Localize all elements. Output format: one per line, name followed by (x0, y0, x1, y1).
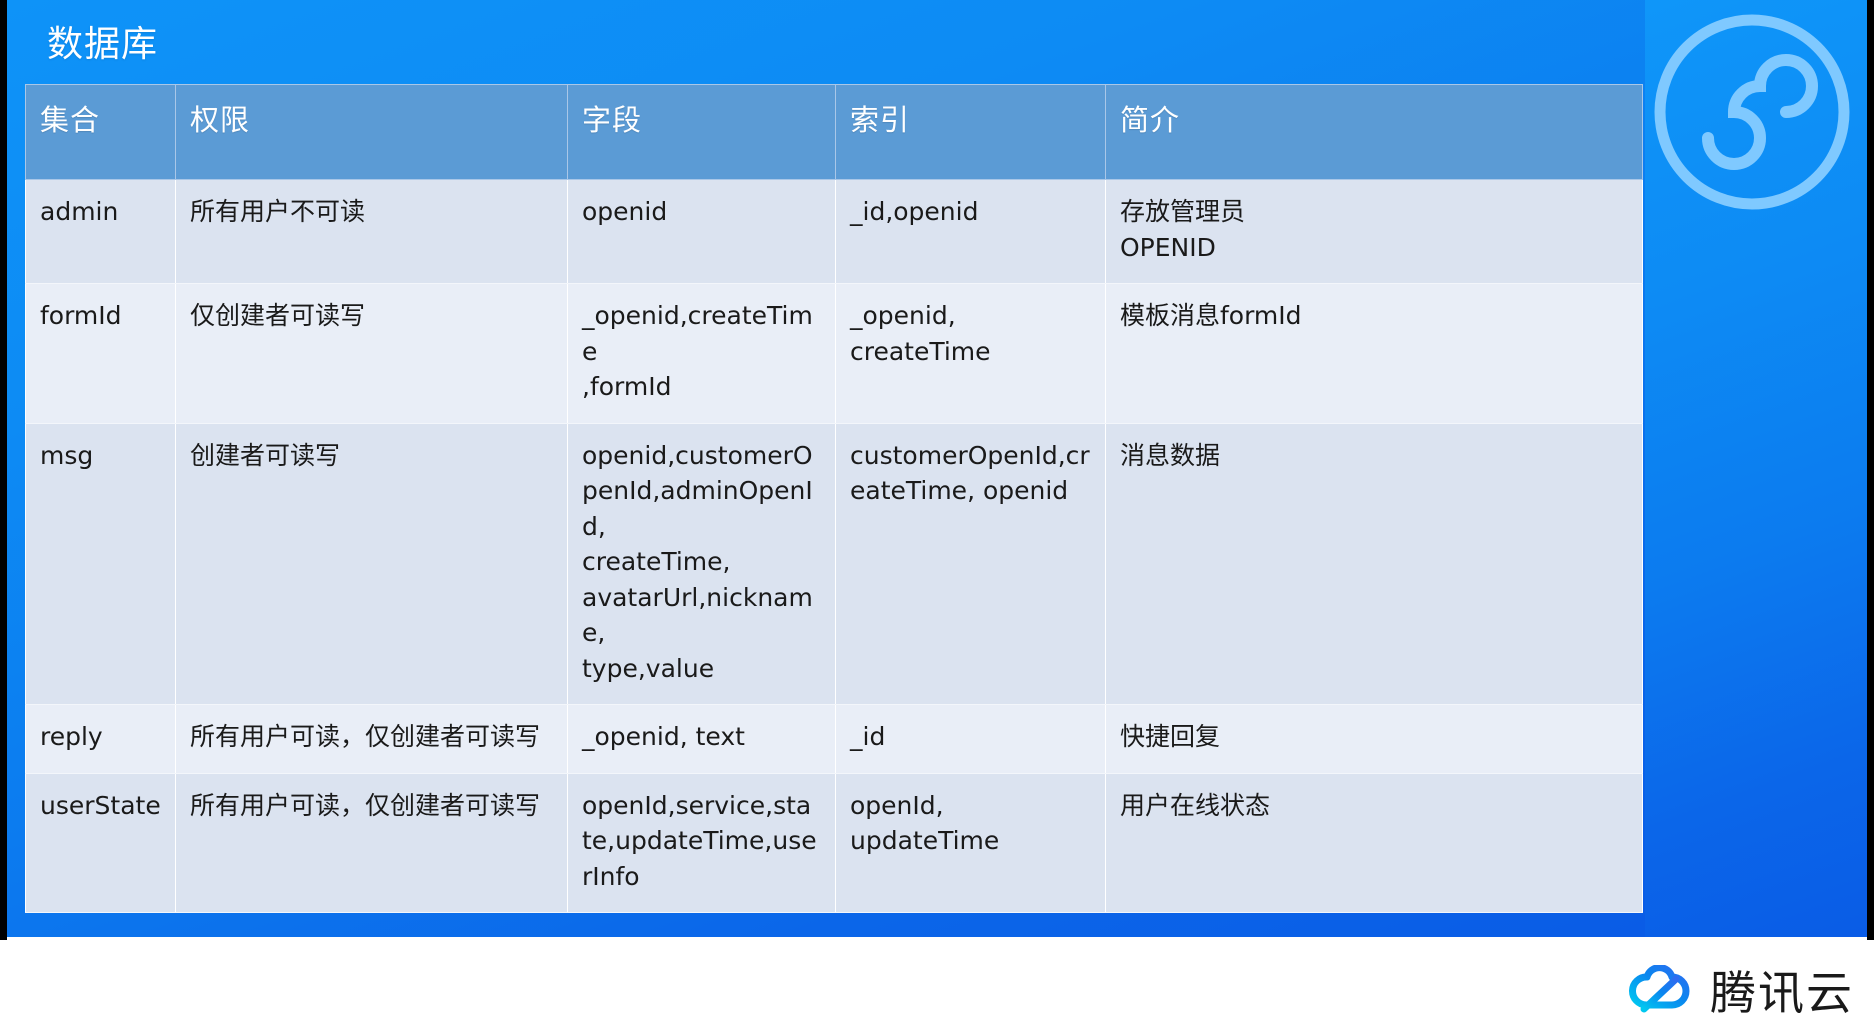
slide-canvas: 数据库 集合 权限 字段 索引 简介 admin 所有用户不可读 openid (0, 0, 1874, 1031)
table-body: admin 所有用户不可读 openid _id,openid 存放管理员 OP… (26, 180, 1643, 913)
column-header-collection: 集合 (26, 85, 176, 180)
cell-description: 快捷回复 (1106, 705, 1643, 774)
cell-fields: openid,customerOpenId,adminOpenId, creat… (568, 423, 836, 705)
cell-fields: openid (568, 180, 836, 284)
table-header-row: 集合 权限 字段 索引 简介 (26, 85, 1643, 180)
cell-index: _id (836, 705, 1106, 774)
cell-index: _openid, createTime (836, 284, 1106, 424)
cell-collection: msg (26, 423, 176, 705)
frame-rail-right (1867, 0, 1874, 940)
cell-permission: 仅创建者可读写 (176, 284, 568, 424)
collections-table: 集合 权限 字段 索引 简介 admin 所有用户不可读 openid _id,… (25, 84, 1643, 913)
cell-fields: _openid,createTime ,formId (568, 284, 836, 424)
table-row: msg 创建者可读写 openid,customerOpenId,adminOp… (26, 423, 1643, 705)
column-header-permission: 权限 (176, 85, 568, 180)
cell-description: 用户在线状态 (1106, 773, 1643, 913)
tencent-cloud-wordmark: 腾讯云 (1710, 970, 1854, 1016)
tencent-cloud-icon (1624, 965, 1698, 1021)
table-row: reply 所有用户可读，仅创建者可读写 _openid, text _id 快… (26, 705, 1643, 774)
cell-permission: 所有用户可读，仅创建者可读写 (176, 705, 568, 774)
frame-rail-left (0, 0, 7, 940)
cell-index: customerOpenId,createTime, openid (836, 423, 1106, 705)
cell-description: 模板消息formId (1106, 284, 1643, 424)
cell-permission: 所有用户可读，仅创建者可读写 (176, 773, 568, 913)
table-row: formId 仅创建者可读写 _openid,createTime ,formI… (26, 284, 1643, 424)
cell-permission: 创建者可读写 (176, 423, 568, 705)
column-header-index: 索引 (836, 85, 1106, 180)
slide-background-panel-right (1645, 0, 1867, 937)
cell-description: 消息数据 (1106, 423, 1643, 705)
cell-index: openId, updateTime (836, 773, 1106, 913)
cell-permission: 所有用户不可读 (176, 180, 568, 284)
cell-fields: _openid, text (568, 705, 836, 774)
bottom-bar (0, 937, 1874, 1031)
table-row: userState 所有用户可读，仅创建者可读写 openId,service,… (26, 773, 1643, 913)
tencent-cloud-logo: 腾讯云 (1624, 962, 1854, 1024)
cell-collection: userState (26, 773, 176, 913)
cell-description: 存放管理员 OPENID (1106, 180, 1643, 284)
cell-collection: admin (26, 180, 176, 284)
cell-index: _id,openid (836, 180, 1106, 284)
cell-collection: reply (26, 705, 176, 774)
page-title: 数据库 (47, 22, 158, 68)
table-row: admin 所有用户不可读 openid _id,openid 存放管理员 OP… (26, 180, 1643, 284)
cell-collection: formId (26, 284, 176, 424)
column-header-description: 简介 (1106, 85, 1643, 180)
database-table: 集合 权限 字段 索引 简介 admin 所有用户不可读 openid _id,… (25, 84, 1642, 913)
column-header-fields: 字段 (568, 85, 836, 180)
cell-fields: openId,service,state,updateTime,userInfo (568, 773, 836, 913)
